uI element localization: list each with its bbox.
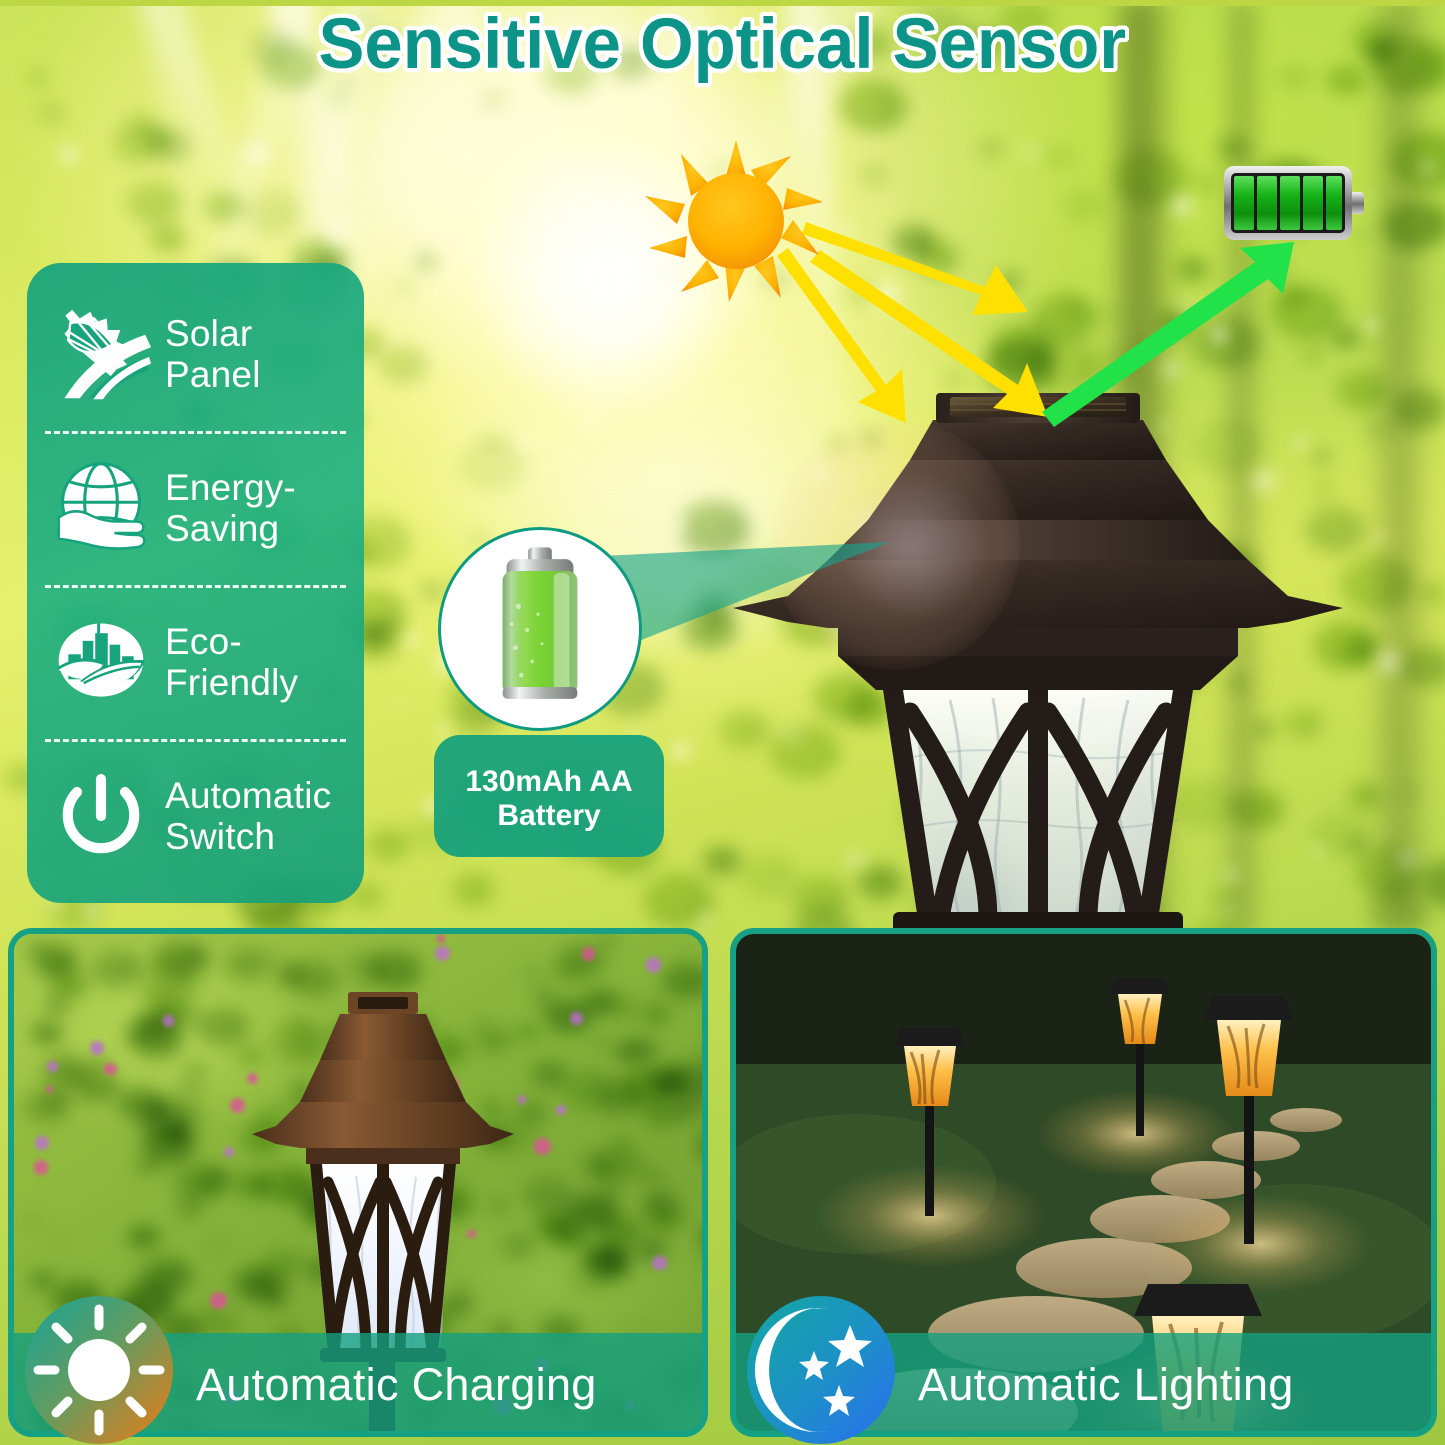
feature-item-solar-panel[interactable]: Solar Panel — [27, 277, 364, 431]
feature-label-eco-friendly: Eco- Friendly — [165, 621, 298, 704]
globe-hand-energy-saving-icon — [49, 456, 153, 560]
sun-icon — [641, 140, 831, 302]
feature-label-solar-panel: Solar Panel — [165, 313, 261, 396]
battery-callout-pill: 130mAh AA Battery — [434, 735, 664, 857]
solar-panel-icon — [49, 302, 153, 406]
power-switch-icon — [49, 764, 153, 868]
moon-stars-badge-icon — [746, 1295, 896, 1445]
page-title-container: Sensitive Optical Sensor — [0, 4, 1445, 85]
top-edge-strip — [0, 0, 1445, 6]
page-title: Sensitive Optical Sensor — [319, 4, 1127, 85]
caption-label-automatic-charging: Automatic Charging — [196, 1359, 597, 1411]
feature-item-energy-saving[interactable]: Energy- Saving — [27, 431, 364, 585]
sun-badge-icon — [24, 1295, 174, 1445]
feature-label-automatic-switch: Automatic Switch — [165, 775, 331, 858]
battery-callout-circle — [438, 527, 642, 731]
infographic-page: Sensitive Optical Sensor — [0, 0, 1445, 1445]
feature-item-eco-friendly[interactable]: Eco- Friendly — [27, 585, 364, 739]
battery-type-label: Battery — [497, 799, 600, 833]
aa-battery-icon — [481, 545, 599, 713]
battery-callout: 130mAh AA Battery — [434, 527, 664, 857]
feature-item-automatic-switch[interactable]: Automatic Switch — [27, 739, 364, 893]
city-leaf-eco-friendly-icon — [49, 610, 153, 714]
caption-label-automatic-lighting: Automatic Lighting — [918, 1359, 1294, 1411]
battery-capacity-label: 130mAh AA — [465, 765, 632, 799]
battery-full-icon — [1222, 162, 1368, 244]
feature-label-energy-saving: Energy- Saving — [165, 467, 296, 550]
feature-list-panel: Solar Panel Energy- Saving — [27, 263, 364, 903]
